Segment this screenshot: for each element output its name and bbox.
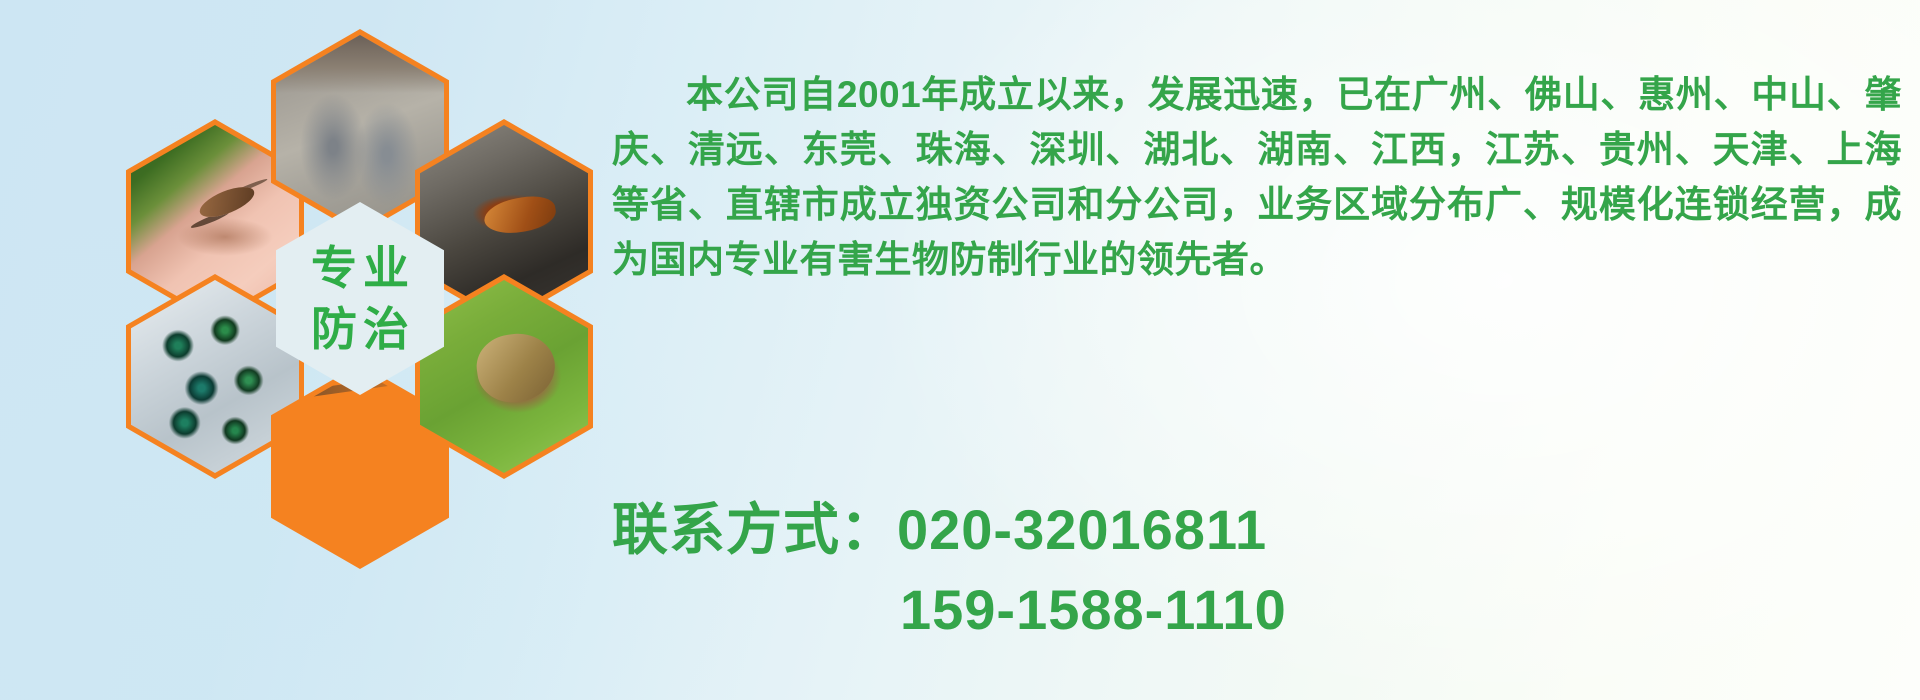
contact-block: 联系方式：020-32016811 159-1588-1110 bbox=[612, 490, 1902, 650]
contact-primary-line[interactable]: 联系方式：020-32016811 bbox=[612, 490, 1902, 570]
promotional-banner: 专业 防治 本公司自2001年成立以来，发展迅速，已在广州、佛山、惠州、中山、肇… bbox=[0, 0, 1920, 700]
company-description-text: 本公司自2001年成立以来，发展迅速，已在广州、佛山、惠州、中山、肇庆、清远、东… bbox=[612, 67, 1902, 287]
collage-headline-line-2: 防治 bbox=[305, 299, 415, 360]
company-description: 本公司自2001年成立以来，发展迅速，已在广州、佛山、惠州、中山、肇庆、清远、东… bbox=[612, 30, 1902, 324]
collage-headline-line-1: 专业 bbox=[305, 238, 415, 299]
hexagon-collage: 专业 防治 bbox=[95, 8, 595, 578]
contact-secondary-line[interactable]: 159-1588-1110 bbox=[612, 570, 1902, 650]
hex-inner-center: 专业 防治 bbox=[276, 202, 444, 395]
collage-headline: 专业 防治 bbox=[305, 238, 415, 359]
